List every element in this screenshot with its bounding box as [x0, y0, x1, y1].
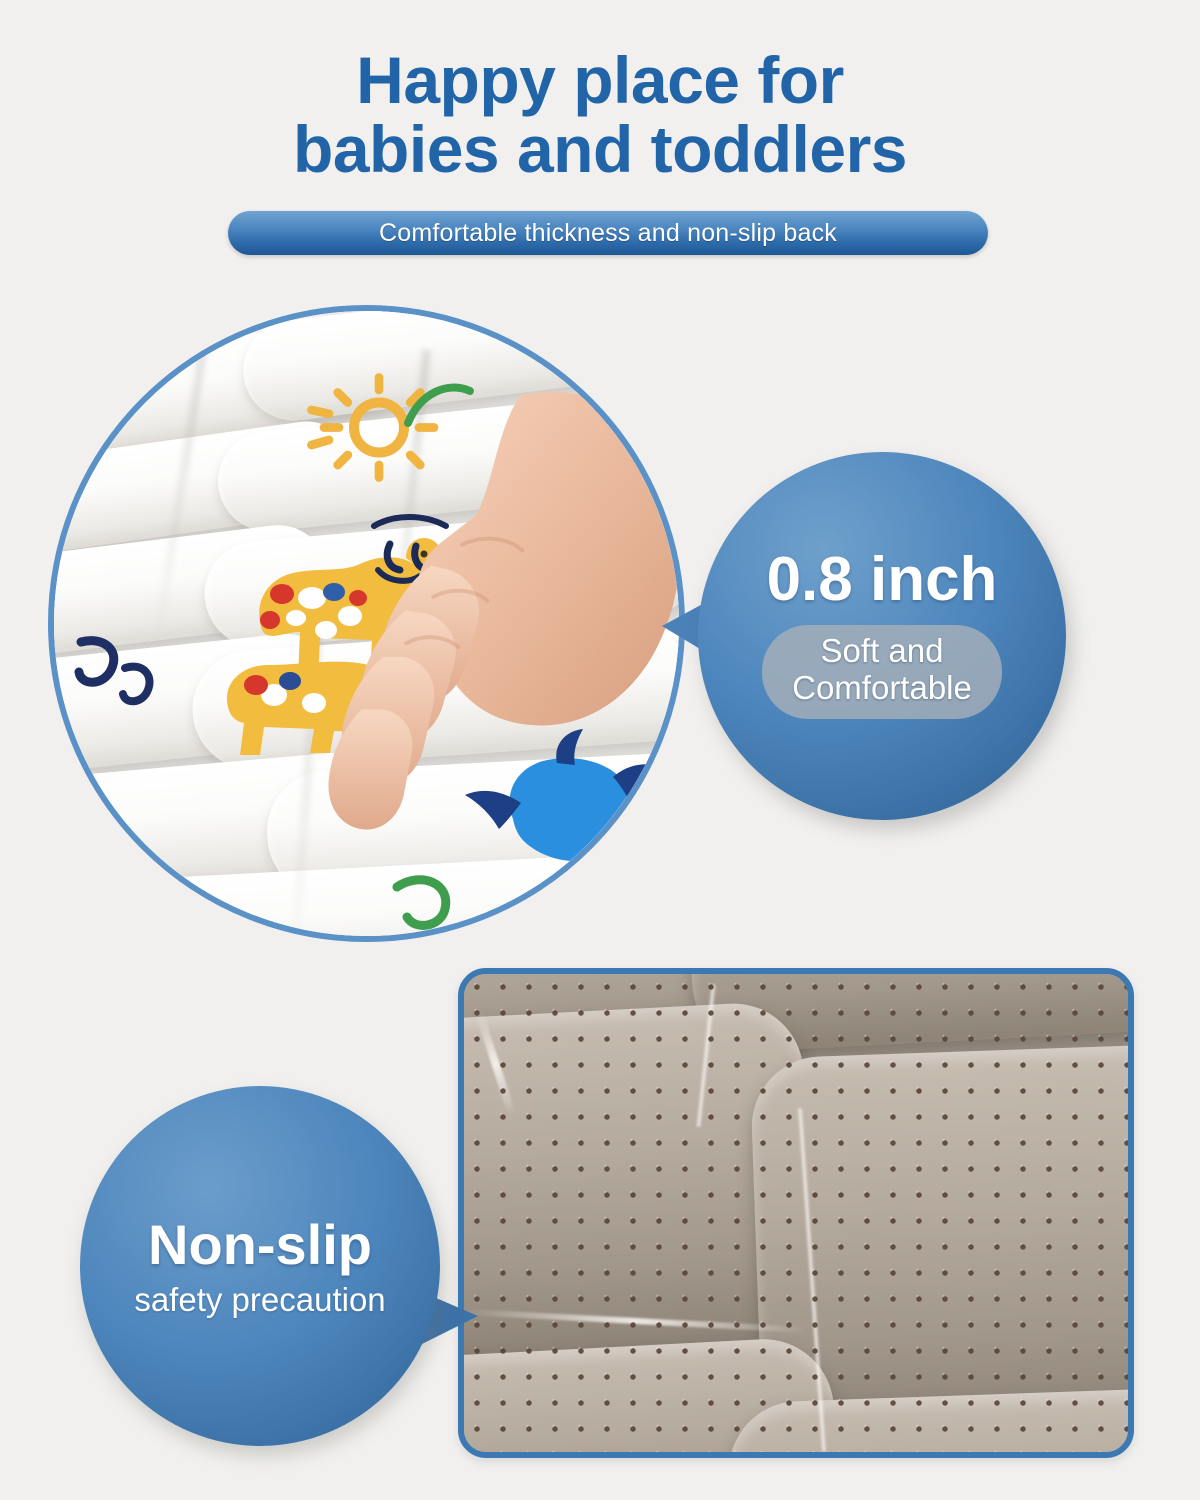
non-slip-badge: Non-slip safety precaution [80, 1086, 500, 1446]
product-feature-page: Happy place for babies and toddlers Comf… [0, 0, 1200, 1500]
green-scribble-print-icon [379, 861, 509, 936]
non-slip-subtitle: safety precaution [134, 1282, 385, 1318]
thickness-pill: Soft and Comfortable [762, 625, 1002, 719]
non-slip-title: Non-slip [148, 1214, 372, 1276]
badge-content: 0.8 inch Soft and Comfortable [698, 452, 1066, 820]
scribble-print-icon [67, 624, 187, 734]
badge-content: Non-slip safety precaution [80, 1086, 440, 1446]
pill-line-1: Soft and [792, 633, 972, 670]
headline-line-2: babies and toddlers [0, 115, 1200, 184]
thickness-value: 0.8 inch [767, 549, 998, 611]
non-slip-dotted-backing-photo [458, 968, 1134, 1458]
pill-line-2: Comfortable [792, 670, 972, 707]
silicone-dot-highlights [464, 974, 1128, 1452]
thickness-badge: 0.8 inch Soft and Comfortable [662, 452, 1066, 856]
subtitle-banner: Comfortable thickness and non-slip back [228, 211, 988, 255]
headline-line-1: Happy place for [356, 43, 844, 117]
hand-illustration [317, 386, 680, 849]
hand-pressing-quilted-mattress-photo [48, 305, 685, 942]
photo-content [54, 311, 679, 936]
photo-content [464, 974, 1128, 1452]
subtitle-banner-label: Comfortable thickness and non-slip back [379, 219, 837, 248]
page-title: Happy place for babies and toddlers [0, 46, 1200, 183]
